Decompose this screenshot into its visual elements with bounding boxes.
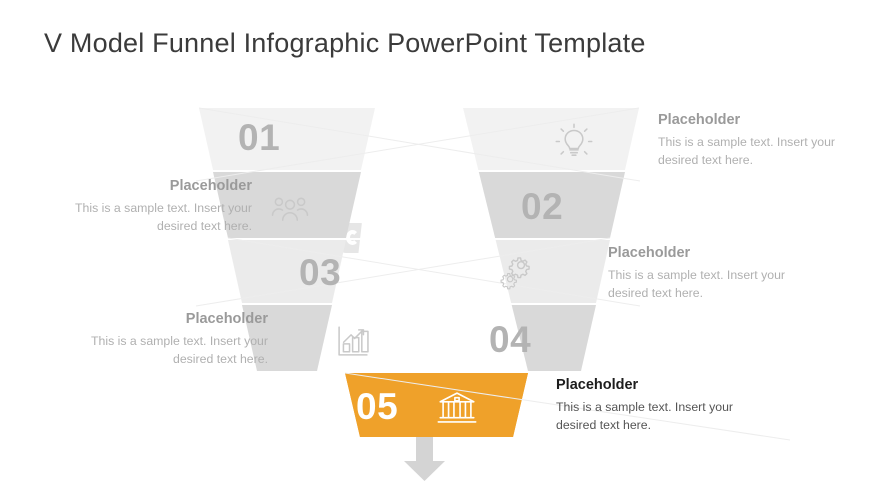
- placeholder-text-block-02[interactable]: Placeholder This is a sample text. Inser…: [46, 178, 252, 236]
- gears-icon: [492, 252, 538, 298]
- slide-canvas: V Model Funnel Infographic PowerPoint Te…: [0, 0, 870, 489]
- funnel-step-number-05: 05: [356, 388, 398, 425]
- placeholder-body-01: This is a sample text. Insert your desir…: [658, 134, 864, 170]
- funnel-step-number-04: 04: [489, 321, 531, 358]
- funnel-level-1-left-arm[interactable]: [199, 108, 375, 170]
- placeholder-title-03: Placeholder: [608, 245, 814, 262]
- band-separator-2: [195, 238, 645, 240]
- placeholder-body-05: This is a sample text. Insert your desir…: [556, 399, 762, 435]
- funnel-step-number-03: 03: [299, 254, 341, 291]
- placeholder-text-block-03[interactable]: Placeholder This is a sample text. Inser…: [608, 245, 814, 303]
- placeholder-title-01: Placeholder: [658, 112, 864, 129]
- placeholder-title-02: Placeholder: [46, 178, 252, 195]
- people-group-icon: [267, 187, 313, 233]
- placeholder-text-block-01[interactable]: Placeholder This is a sample text. Inser…: [658, 112, 864, 170]
- funnel-step-number-02: 02: [521, 188, 563, 225]
- band-separator-4: [195, 371, 645, 373]
- funnel-step-number-01: 01: [238, 119, 280, 156]
- placeholder-body-03: This is a sample text. Insert your desir…: [608, 267, 814, 303]
- placeholder-body-04: This is a sample text. Insert your desir…: [62, 333, 268, 369]
- bar-chart-growth-icon: [330, 318, 376, 364]
- placeholder-text-block-04[interactable]: Placeholder This is a sample text. Inser…: [62, 311, 268, 369]
- band-separator-3: [195, 303, 645, 305]
- lightbulb-icon: [551, 118, 597, 164]
- placeholder-title-05: Placeholder: [556, 377, 762, 394]
- funnel-output-arrow: [404, 437, 445, 481]
- bank-building-icon: [434, 385, 480, 431]
- placeholder-text-block-05[interactable]: Placeholder This is a sample text. Inser…: [556, 377, 762, 435]
- placeholder-body-02: This is a sample text. Insert your desir…: [46, 200, 252, 236]
- placeholder-title-04: Placeholder: [62, 311, 268, 328]
